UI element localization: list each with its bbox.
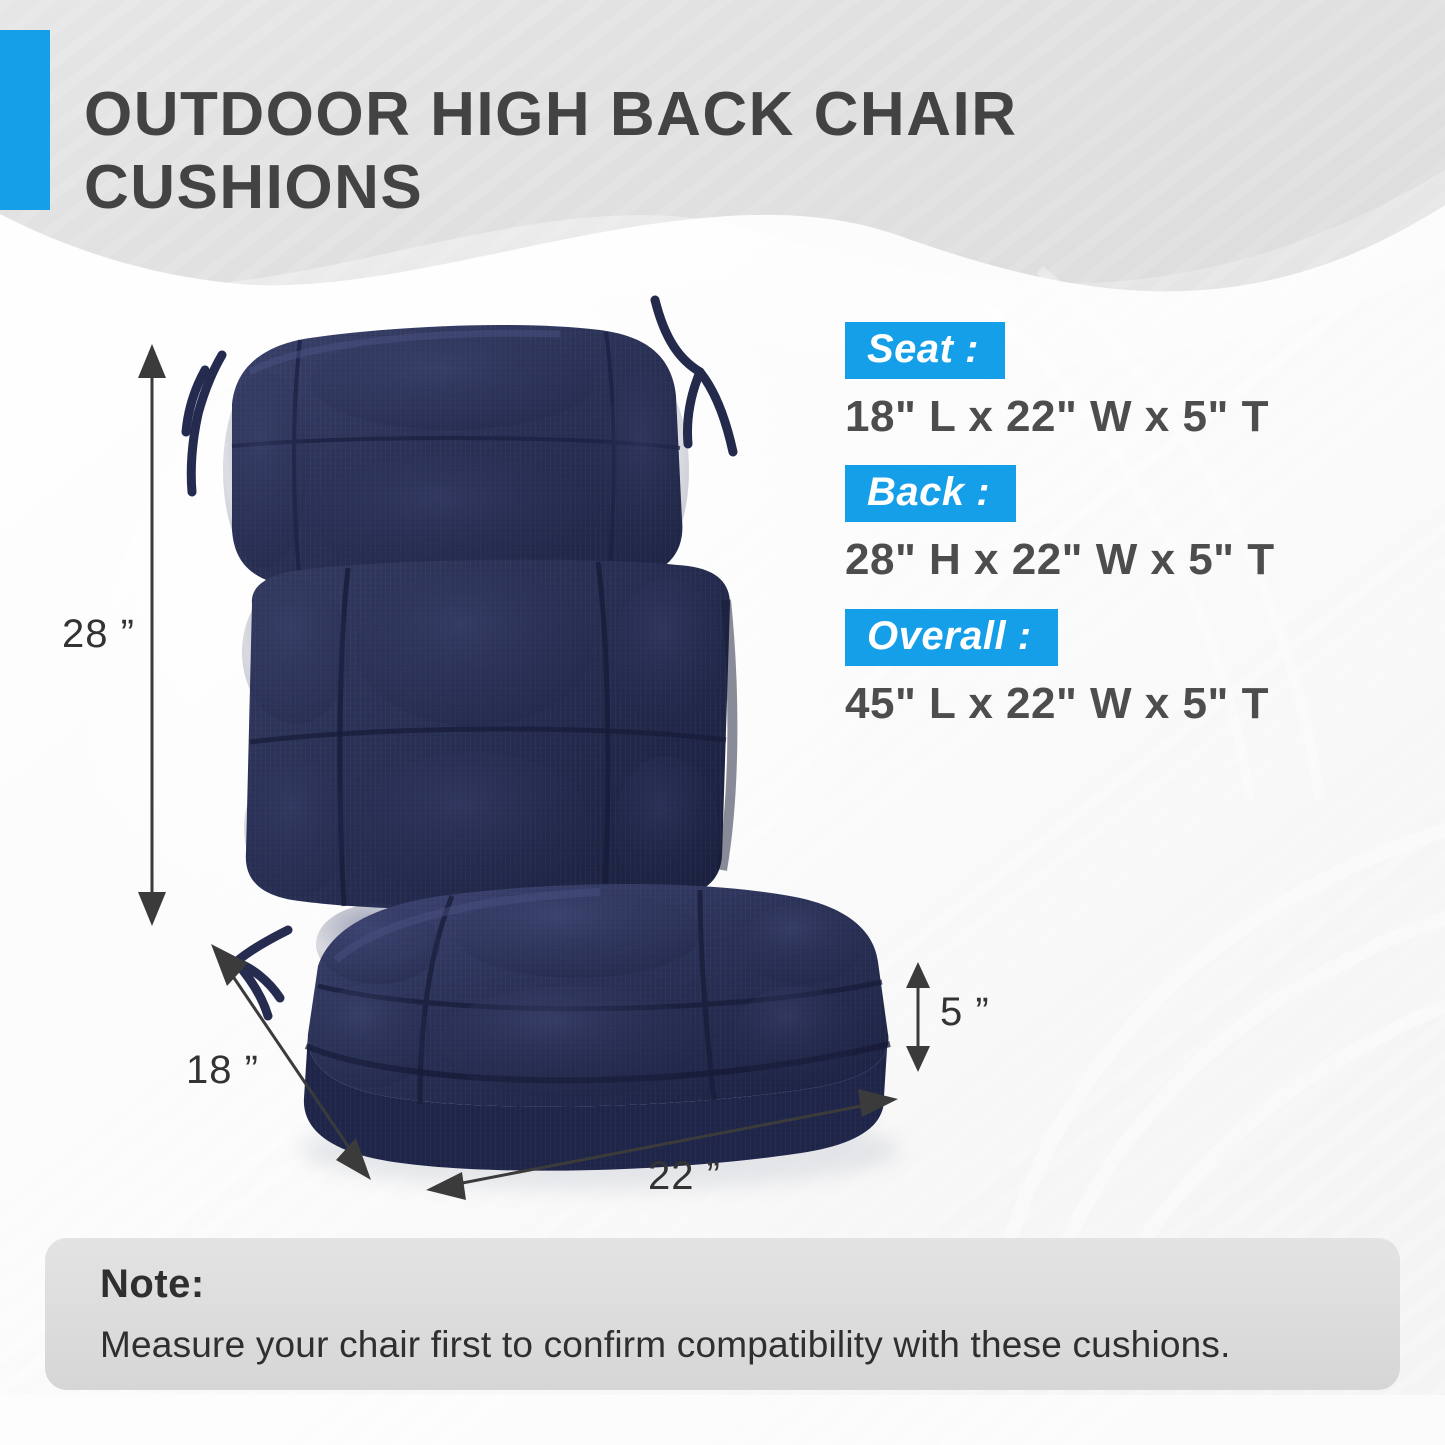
note-title: Note: — [100, 1262, 205, 1307]
infographic-canvas: OUTDOOR HIGH BACK CHAIR CUSHIONS Seat : … — [0, 0, 1445, 1445]
spec-seat-value: 18" L x 22" W x 5" T — [845, 393, 1385, 441]
note-text: Measure your chair first to confirm comp… — [100, 1324, 1390, 1366]
dimension-line-thickness — [906, 962, 930, 1072]
spec-overall: Overall : 45" L x 22" W x 5" T — [845, 609, 1385, 728]
spec-seat: Seat : 18" L x 22" W x 5" T — [845, 322, 1385, 441]
dimension-label-height: 28 ” — [62, 612, 135, 657]
spec-back-value: 28" H x 22" W x 5" T — [845, 536, 1385, 584]
dimension-label-width: 22 ” — [648, 1154, 721, 1199]
dimension-label-thickness: 5 ” — [940, 990, 990, 1035]
header-accent-bar — [0, 30, 50, 210]
note-box — [45, 1238, 1400, 1390]
dimension-line-height — [138, 344, 166, 926]
spec-seat-label: Seat : — [845, 322, 1005, 379]
dimension-label-depth: 18 ” — [186, 1048, 259, 1093]
page-title: OUTDOOR HIGH BACK CHAIR CUSHIONS — [84, 78, 1264, 224]
spec-overall-value: 45" L x 22" W x 5" T — [845, 680, 1385, 728]
spec-back: Back : 28" H x 22" W x 5" T — [845, 465, 1385, 584]
spec-back-label: Back : — [845, 465, 1016, 522]
spec-overall-label: Overall : — [845, 609, 1058, 666]
specifications-panel: Seat : 18" L x 22" W x 5" T Back : 28" H… — [845, 322, 1385, 752]
